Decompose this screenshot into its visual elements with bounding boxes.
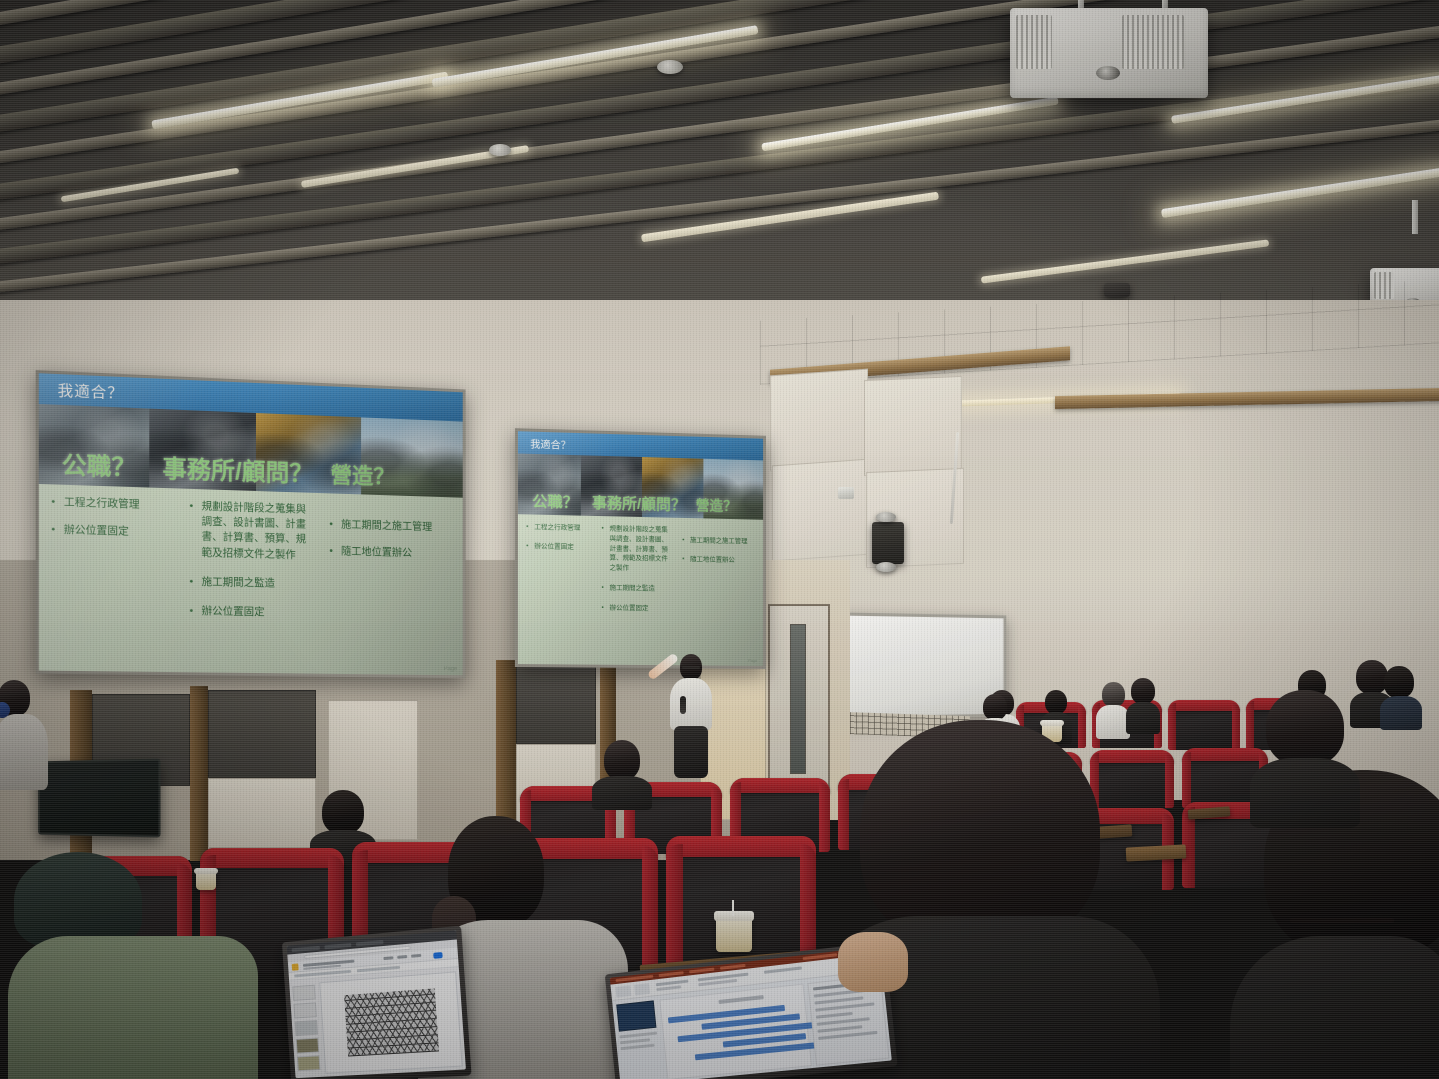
slide-column-firm-consultant: • 規劃設計階段之蒐集與調查、設計書圖、計畫書、計算書、預算、規範及招標文件之製… <box>602 524 683 661</box>
bullet-marker: • <box>602 524 610 534</box>
bullet-marker: • <box>526 541 534 551</box>
bullet-marker: • <box>526 522 534 532</box>
slide-column-public-service: • 工程之行政管理 • 辦公位置固定 <box>522 522 601 660</box>
laptop-screen-presentation[interactable] <box>287 930 466 1078</box>
preview-panel[interactable] <box>616 1000 656 1031</box>
bullet-marker: • <box>682 555 690 565</box>
slide-header-firm-consultant: 事務所/顧問？ <box>592 492 686 515</box>
seat <box>1168 700 1240 750</box>
slide-thumbnail[interactable] <box>293 1002 316 1018</box>
slide-title: 我適合？ <box>58 379 124 403</box>
bullet-text: 隨工地位置辦公 <box>690 555 759 566</box>
bullet-text: 辦公位置固定 <box>202 604 326 621</box>
beanie-icon <box>14 852 142 948</box>
bullet-text: 施工期間之施工管理 <box>341 518 457 536</box>
ceiling <box>0 0 1439 330</box>
microphone-icon <box>680 696 686 714</box>
technical-drawing <box>344 988 439 1056</box>
slide-bullet: • 規劃設計階段之蒐集與調查、設計書圖、計畫書、計算書、預算、規範及招標文件之製… <box>602 524 683 574</box>
slide-thumbnail[interactable] <box>296 1038 319 1054</box>
bullet-text: 施工期間之監造 <box>610 583 683 594</box>
slide-header-construction: 營造？ <box>331 458 395 492</box>
projection-screen-right: 我適合？ 公職？ 事務所/顧問？ 營造？ • <box>515 428 766 669</box>
presenter-legs <box>674 726 708 778</box>
slide-column-firm-consultant: • 規劃設計階段之蒐集與調查、設計書圖、計畫書、計算書、預算、規範及招標文件之製… <box>185 499 325 668</box>
slide-bullet: • 施工期間之監造 <box>602 583 683 594</box>
bullet-text: 辦公位置固定 <box>534 542 601 553</box>
bullet-marker: • <box>602 583 610 593</box>
bullet-marker: • <box>51 495 63 511</box>
hand <box>838 932 908 992</box>
bullet-marker: • <box>51 522 63 538</box>
slide-page-number: Page <box>748 658 757 663</box>
timeline-bar[interactable] <box>695 1042 824 1061</box>
slide-photo-band: 公職？ 事務所/顧問？ 營造？ <box>518 453 763 519</box>
audience-member <box>1380 666 1422 728</box>
bullet-marker: • <box>602 603 610 613</box>
slide-bullet: • 隨工地位置辦公 <box>329 544 457 562</box>
ceiling-speaker <box>1104 283 1130 297</box>
wall-speaker <box>872 522 904 564</box>
audience-member <box>0 680 48 790</box>
projection-screen-left: 我適合？ 公職？ 事務所/顧問？ 營造？ <box>36 370 466 678</box>
slide-right: 我適合？ 公職？ 事務所/顧問？ 營造？ • <box>518 431 763 666</box>
bullet-text: 隨工地位置辦公 <box>341 544 457 562</box>
bullet-text: 工程之行政管理 <box>534 523 601 534</box>
slide-left: 我適合？ 公職？ 事務所/顧問？ 營造？ <box>39 373 463 675</box>
slide-bullet: • 辦公位置固定 <box>602 603 683 614</box>
drink-cup <box>716 918 752 952</box>
bullet-text: 辦公位置固定 <box>64 523 186 542</box>
slide-column-construction: • 施工期間之施工管理 • 隨工地位置辦公 <box>682 526 759 662</box>
slide-header-firm-consultant: 事務所/顧問？ <box>162 449 312 489</box>
slide-header-construction: 營造？ <box>696 495 737 516</box>
bullet-marker: • <box>329 544 341 559</box>
bullet-text: 規劃設計階段之蒐集與調查、設計書圖、計畫書、計算書、預算、規範及招標文件之製作 <box>202 499 309 563</box>
bullet-marker: • <box>189 574 201 590</box>
bullet-text: 工程之行政管理 <box>64 495 186 514</box>
ceiling-projector <box>1010 8 1208 98</box>
slide-canvas[interactable] <box>319 971 462 1073</box>
wall-monitor <box>38 758 160 837</box>
bullet-marker: • <box>189 604 201 620</box>
straw-icon <box>732 900 734 916</box>
ceiling-light <box>981 239 1269 283</box>
slide-header-public-service: 公職？ <box>532 490 578 512</box>
bullet-text: 辦公位置固定 <box>610 603 683 614</box>
laptop-left[interactable] <box>282 926 472 1079</box>
slide-bullet: • 施工期間之監造 <box>189 574 325 592</box>
slide-bullet: • 工程之行政管理 <box>526 522 601 533</box>
glasses-icon <box>682 666 700 669</box>
bullet-text: 施工期間之施工管理 <box>690 536 759 547</box>
security-camera-icon <box>838 487 854 499</box>
glasses-icon <box>1290 918 1394 923</box>
smoke-detector-icon <box>657 60 683 74</box>
slide-bullet: • 施工期間之施工管理 <box>682 536 759 547</box>
slide-header-public-service: 公職？ <box>62 445 136 483</box>
slide-thumbnail[interactable] <box>295 1020 318 1036</box>
presenter <box>660 648 720 778</box>
slide-bullet: • 辦公位置固定 <box>526 541 601 552</box>
bullet-marker: • <box>189 499 201 515</box>
bullet-text: 規劃設計階段之蒐集與調查、設計書圖、計畫書、計算書、預算、規範及招標文件之製作 <box>610 524 672 574</box>
slide-page-number: Page <box>444 666 457 672</box>
slide-column-construction: • 施工期間之施工管理 • 隨工地位置辦公 <box>325 503 457 669</box>
slide-bullet: • 施工期間之施工管理 <box>329 517 457 536</box>
audience-member-green-jacket <box>8 852 258 1079</box>
bullet-marker: • <box>682 536 690 546</box>
slide-bullet: • 工程之行政管理 <box>51 495 185 515</box>
slide-column-public-service: • 工程之行政管理 • 辦公位置固定 <box>45 494 185 666</box>
slide-photo-band: 公職？ 事務所/顧問？ 營造？ <box>39 404 463 498</box>
slide-title: 我適合？ <box>530 435 571 451</box>
presenter-torso <box>670 678 712 730</box>
slide-thumbnail[interactable] <box>292 985 315 1001</box>
slide-bullet: • 辦公位置固定 <box>189 604 325 622</box>
bullet-text: 施工期間之監造 <box>202 575 326 593</box>
timeline-area[interactable] <box>659 983 812 1079</box>
slide-bullet: • 隨工地位置辦公 <box>682 555 759 566</box>
lecture-hall-photo: 我適合？ 公職？ 事務所/顧問？ 營造？ <box>0 0 1439 1079</box>
slide-bullet: • 辦公位置固定 <box>51 522 185 541</box>
smoke-detector-icon <box>489 144 511 156</box>
bullet-marker: • <box>329 517 341 532</box>
audience-member <box>1250 690 1360 820</box>
projector-lens-icon <box>1096 66 1120 80</box>
ceiling-light <box>1161 167 1439 218</box>
slide-bullet: • 規劃設計階段之蒐集與調查、設計書圖、計畫書、計算書、預算、規範及招標文件之製… <box>189 499 325 564</box>
audience-member <box>592 740 652 806</box>
slide-thumbnail[interactable] <box>297 1055 320 1071</box>
